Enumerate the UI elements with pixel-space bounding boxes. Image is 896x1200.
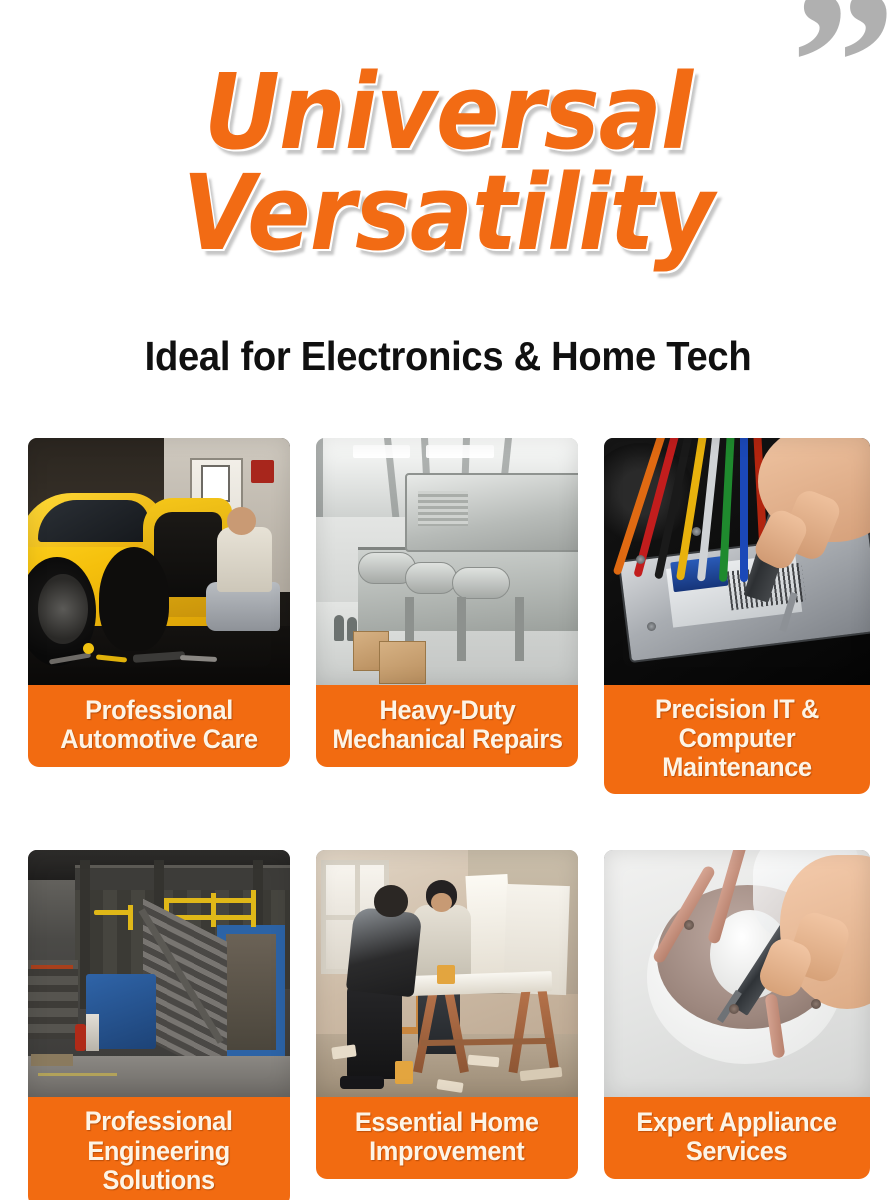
home-renovation-workers-trestle-table-photo <box>316 850 578 1098</box>
service-card-mechanical[interactable]: Heavy-Duty Mechanical Repairs <box>316 438 578 794</box>
service-card-label: Precision IT & Computer Maintenance <box>604 685 870 794</box>
industrial-factory-machinery-hall-photo <box>316 438 578 686</box>
service-card-engineering[interactable]: Professional Engineering Solutions <box>28 850 290 1200</box>
yellow-sports-car-garage-mechanic-photo <box>28 438 290 686</box>
service-card-label-text: Heavy-Duty Mechanical Repairs <box>332 696 562 754</box>
hard-drive-screwdriver-ribbon-cables-photo <box>604 438 870 686</box>
page-title-line-1: Universal <box>45 62 851 163</box>
page-subtitle: Ideal for Electronics & Home Tech <box>31 333 864 380</box>
service-card-label: Professional Engineering Solutions <box>28 1097 290 1200</box>
service-card-automotive[interactable]: Professional Automotive Care <box>28 438 290 794</box>
service-card-label-text: Professional Engineering Solutions <box>85 1107 233 1194</box>
service-card-label: Expert Appliance Services <box>604 1097 870 1179</box>
appliance-part-precision-screwdriver-photo <box>604 850 870 1098</box>
service-card-label-text: Precision IT & Computer Maintenance <box>618 695 857 782</box>
page-title-line-2: Versatility <box>45 163 851 264</box>
poster-page: ” Universal Versatility Ideal for Electr… <box>0 0 896 1200</box>
service-card-home-improvement[interactable]: Essential Home Improvement <box>316 850 578 1200</box>
service-card-label-text: Expert Appliance Services <box>637 1108 837 1166</box>
service-card-grid: Professional Automotive Care <box>28 438 870 1200</box>
service-card-label-text: Professional Automotive Care <box>60 696 257 754</box>
service-card-it-maintenance[interactable]: Precision IT & Computer Maintenance <box>604 438 870 794</box>
service-card-label: Professional Automotive Care <box>28 685 290 767</box>
engineering-plant-staircase-photo <box>28 850 290 1098</box>
page-title: Universal Versatility <box>0 62 896 264</box>
service-card-label: Heavy-Duty Mechanical Repairs <box>316 685 578 767</box>
service-card-label-text: Essential Home Improvement <box>355 1108 539 1166</box>
service-card-label: Essential Home Improvement <box>316 1097 578 1179</box>
service-card-appliance[interactable]: Expert Appliance Services <box>604 850 870 1200</box>
